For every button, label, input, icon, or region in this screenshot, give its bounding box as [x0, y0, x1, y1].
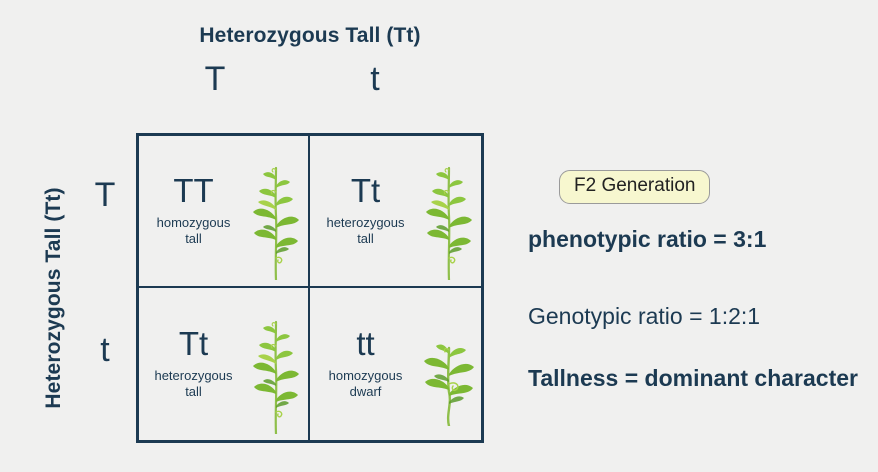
punnett-cell-tt-heterozygous-top: Tt heterozygous tall	[310, 136, 481, 288]
tall-pea-plant-icon	[244, 136, 308, 286]
left-parent-label: Heterozygous Tall (Tt)	[42, 143, 66, 453]
f2-generation-badge: F2 Generation	[559, 170, 710, 204]
cell-genotype: Tt	[145, 327, 242, 362]
cell-genotype: TT	[145, 174, 242, 209]
tall-pea-plant-icon	[244, 288, 308, 440]
cell-descriptor: heterozygous tall	[145, 368, 242, 401]
column-allele-0: T	[127, 62, 303, 96]
cell-descriptor: homozygous dwarf	[316, 368, 415, 401]
top-parent-label: Heterozygous Tall (Tt)	[135, 24, 485, 48]
cell-genotype: tt	[316, 327, 415, 362]
cell-genotype: Tt	[316, 174, 415, 209]
tall-pea-plant-icon	[417, 136, 481, 286]
row-allele-0: T	[80, 178, 130, 212]
punnett-square-diagram: Heterozygous Tall (Tt) T t Heterozygous …	[0, 0, 878, 472]
dwarf-pea-plant-icon	[417, 288, 481, 440]
punnett-cell-tt-heterozygous-bottom: Tt heterozygous tall	[139, 288, 310, 440]
cell-descriptor: homozygous tall	[145, 215, 242, 248]
punnett-cell-tt-homozygous-dwarf: tt homozygous dwarf	[310, 288, 481, 440]
phenotypic-ratio-text: phenotypic ratio = 3:1	[528, 226, 766, 253]
cell-descriptor: heterozygous tall	[316, 215, 415, 248]
genotypic-ratio-text: Genotypic ratio = 1:2:1	[528, 303, 760, 330]
row-allele-1: t	[80, 333, 130, 367]
dominant-character-text: Tallness = dominant character	[528, 363, 858, 393]
column-allele-1: t	[287, 62, 463, 96]
punnett-cell-tt-homozygous: TT homozygous tall	[139, 136, 310, 288]
punnett-grid: TT homozygous tall	[136, 133, 484, 443]
